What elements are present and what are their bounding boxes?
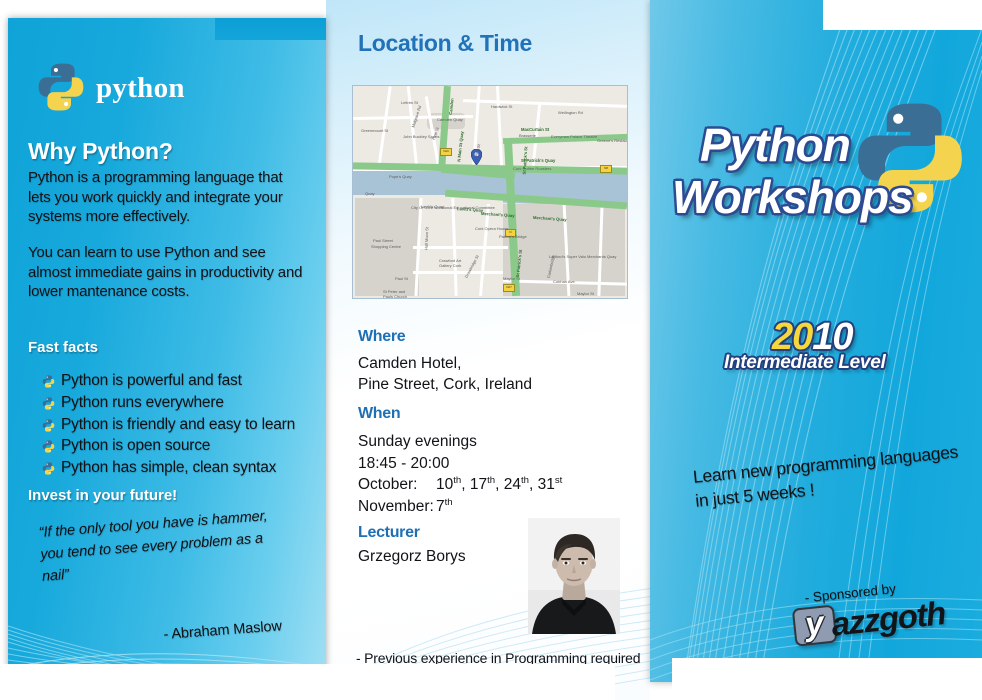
location-map[interactable]: N20 N8 N N27 Pope's Quay St Patrick's Qu… xyxy=(352,85,628,299)
address-line-2: Pine Street, Cork, Ireland xyxy=(358,375,532,396)
list-item-label: Python is open source xyxy=(61,436,210,456)
lecturer-name: Grzegorz Borys xyxy=(358,548,466,566)
left-panel-bottom-cut xyxy=(0,664,615,700)
lecturer-portrait-photo xyxy=(528,518,620,634)
fast-facts-heading: Fast facts xyxy=(28,339,98,356)
list-item: Python is powerful and fast xyxy=(42,371,310,391)
list-item: Python is open source xyxy=(42,436,310,456)
october-label: October: xyxy=(358,474,436,496)
when-line-1: Sunday evenings xyxy=(358,431,562,453)
address-line-1: Camden Hotel, xyxy=(358,354,532,375)
invest-heading: Invest in your future! xyxy=(28,487,177,504)
where-address: Camden Hotel, Pine Street, Cork, Ireland xyxy=(358,354,532,396)
list-item-label: Python is friendly and easy to learn xyxy=(61,415,295,435)
when-heading: When xyxy=(358,405,400,423)
python-wordmark: python xyxy=(96,74,185,105)
list-item-label: Python is powerful and fast xyxy=(61,371,242,391)
list-item-label: Python runs everywhere xyxy=(61,393,224,413)
left-panel-top-tab xyxy=(215,18,326,40)
why-python-paragraph-2: You can learn to use Python and see almo… xyxy=(28,243,304,302)
brochure-title-line-1: Python xyxy=(700,118,850,172)
when-date-row-november: November: 7th xyxy=(358,496,562,518)
python-bullet-icon xyxy=(42,439,55,452)
list-item: Python has simple, clean syntax xyxy=(42,458,310,478)
level-badge: Intermediate Level xyxy=(724,352,885,374)
why-python-heading: Why Python? xyxy=(28,138,173,165)
python-logo-row: python xyxy=(36,62,185,117)
fast-facts-list: Python is powerful and fast Python runs … xyxy=(42,371,310,480)
november-days: 7th xyxy=(436,496,453,518)
list-item-label: Python has simple, clean syntax xyxy=(61,458,276,478)
lecturer-heading: Lecturer xyxy=(358,524,420,542)
brochure-title-line-2: Workshops xyxy=(672,170,913,224)
year-badge: 2010 xyxy=(772,318,853,356)
when-date-row-october: October: 10th, 17th, 24th, 31st xyxy=(358,474,562,496)
november-label: November: xyxy=(358,496,436,518)
right-panel-bottom-cut xyxy=(672,658,982,700)
when-details: Sunday evenings 18:45 - 20:00 October: 1… xyxy=(358,431,562,518)
python-logo-icon xyxy=(36,62,86,117)
python-bullet-icon xyxy=(42,461,55,474)
python-bullet-icon xyxy=(42,396,55,409)
where-heading: Where xyxy=(358,328,405,346)
when-line-2: 18:45 - 20:00 xyxy=(358,453,562,475)
right-panel-top-cut xyxy=(823,0,982,30)
list-item: Python runs everywhere xyxy=(42,393,310,413)
october-days: 10th, 17th, 24th, 31st xyxy=(436,474,562,496)
location-time-heading: Location & Time xyxy=(358,30,532,57)
python-bullet-icon xyxy=(42,374,55,387)
brochure-page: Location & Time xyxy=(0,0,982,700)
list-item: Python is friendly and easy to learn xyxy=(42,415,310,435)
why-python-paragraph-1: Python is a programming language that le… xyxy=(28,168,304,227)
sponsor-initial: y xyxy=(804,610,825,638)
python-bullet-icon xyxy=(42,418,55,431)
